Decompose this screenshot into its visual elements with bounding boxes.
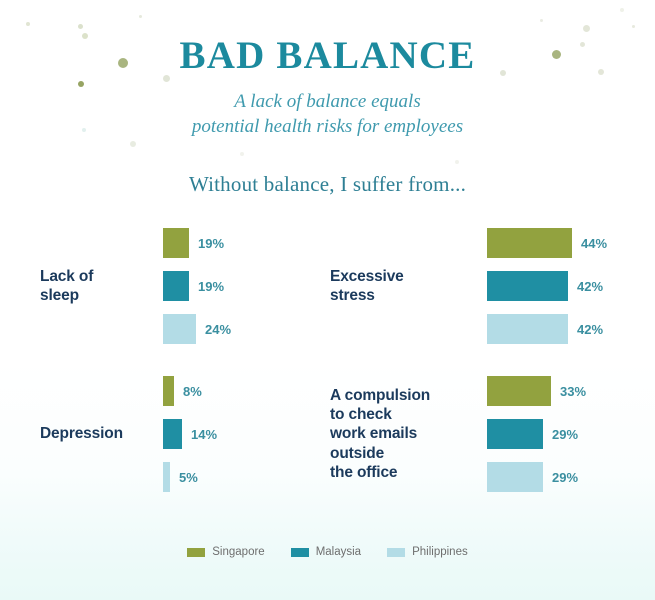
- bar-value-label: 29%: [552, 470, 578, 485]
- bar-row: 42%: [487, 314, 650, 344]
- legend-item-philippines: Philippines: [387, 546, 468, 558]
- bar-singapore: [163, 376, 174, 406]
- bar-value-label: 42%: [577, 279, 603, 294]
- infographic-canvas: BAD BALANCE A lack of balance equals pot…: [0, 0, 655, 600]
- chart-group: Depression8%14%5%: [40, 376, 330, 492]
- bar-malaysia: [163, 271, 189, 301]
- legend-item-singapore: Singapore: [187, 546, 264, 558]
- bar-singapore: [487, 376, 551, 406]
- bar-row: 8%: [163, 376, 330, 406]
- decorative-dot: [455, 160, 459, 164]
- bar-row: 44%: [487, 228, 650, 258]
- category-label: Lack of sleep: [40, 267, 163, 305]
- category-label: A compulsion to check work emails outsid…: [330, 386, 487, 482]
- bar-value-label: 19%: [198, 279, 224, 294]
- bar-stack: 19%19%24%: [163, 228, 330, 344]
- section-heading: Without balance, I suffer from...: [0, 172, 655, 197]
- chart-group: A compulsion to check work emails outsid…: [330, 376, 650, 492]
- legend-swatch: [291, 548, 309, 557]
- bar-value-label: 8%: [183, 384, 202, 399]
- category-label: Excessive stress: [330, 267, 487, 305]
- bar-row: 5%: [163, 462, 330, 492]
- bar-row: 14%: [163, 419, 330, 449]
- bar-value-label: 29%: [552, 427, 578, 442]
- bar-malaysia: [487, 419, 543, 449]
- bar-malaysia: [163, 419, 182, 449]
- bar-value-label: 42%: [577, 322, 603, 337]
- bar-value-label: 44%: [581, 236, 607, 251]
- subtitle-line-1: A lack of balance equals: [0, 89, 655, 114]
- legend-label: Philippines: [412, 546, 468, 558]
- legend-swatch: [387, 548, 405, 557]
- category-label: Depression: [40, 424, 163, 443]
- bar-philippines: [487, 462, 543, 492]
- bar-malaysia: [487, 271, 568, 301]
- bar-chart: Lack of sleep19%19%24%Excessive stress44…: [0, 228, 655, 518]
- bar-stack: 33%29%29%: [487, 376, 650, 492]
- legend-item-malaysia: Malaysia: [291, 546, 361, 558]
- subtitle-line-2: potential health risks for employees: [0, 114, 655, 139]
- bar-row: 19%: [163, 228, 330, 258]
- bar-philippines: [163, 462, 170, 492]
- legend-label: Singapore: [212, 546, 264, 558]
- bar-row: 42%: [487, 271, 650, 301]
- header: BAD BALANCE A lack of balance equals pot…: [0, 0, 655, 139]
- bar-philippines: [487, 314, 568, 344]
- bar-row: 19%: [163, 271, 330, 301]
- legend-swatch: [187, 548, 205, 557]
- bar-row: 29%: [487, 419, 650, 449]
- bar-value-label: 19%: [198, 236, 224, 251]
- bar-stack: 8%14%5%: [163, 376, 330, 492]
- chart-legend: SingaporeMalaysiaPhilippines: [0, 546, 655, 558]
- bar-row: 24%: [163, 314, 330, 344]
- bar-singapore: [487, 228, 572, 258]
- bar-value-label: 24%: [205, 322, 231, 337]
- bar-value-label: 14%: [191, 427, 217, 442]
- chart-group: Lack of sleep19%19%24%: [40, 228, 330, 344]
- bar-value-label: 5%: [179, 470, 198, 485]
- bar-row: 29%: [487, 462, 650, 492]
- bar-philippines: [163, 314, 196, 344]
- bar-row: 33%: [487, 376, 650, 406]
- bar-value-label: 33%: [560, 384, 586, 399]
- decorative-dot: [240, 152, 244, 156]
- decorative-dot: [130, 141, 136, 147]
- chart-group: Excessive stress44%42%42%: [330, 228, 650, 344]
- bar-singapore: [163, 228, 189, 258]
- bar-stack: 44%42%42%: [487, 228, 650, 344]
- legend-label: Malaysia: [316, 546, 361, 558]
- page-subtitle: A lack of balance equals potential healt…: [0, 77, 655, 139]
- page-title: BAD BALANCE: [0, 0, 655, 77]
